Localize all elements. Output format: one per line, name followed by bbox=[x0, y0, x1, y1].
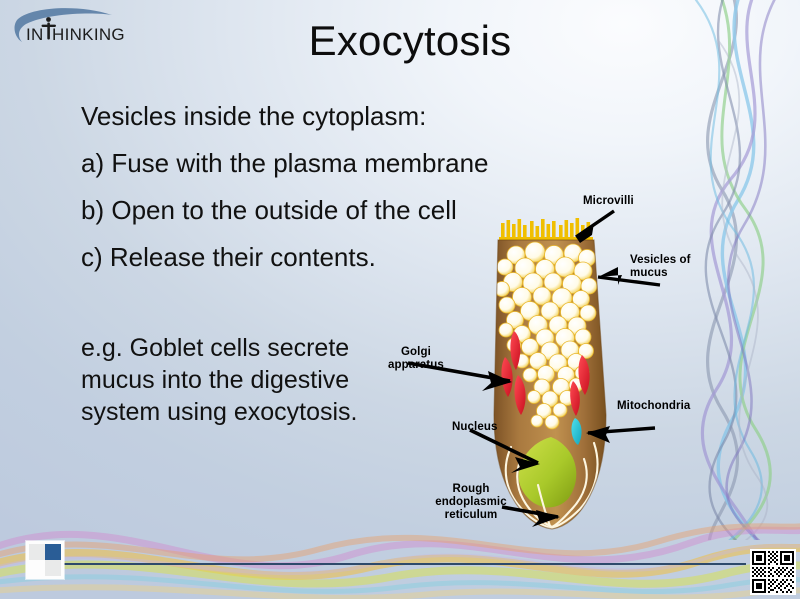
example-text-block: e.g. Goblet cells secrete mucus into the… bbox=[81, 333, 371, 428]
label-nucleus: Nucleus bbox=[452, 421, 497, 434]
inthinking-logo[interactable]: IN HINKING bbox=[8, 6, 136, 50]
label-golgi-apparatus: Golgi apparatus bbox=[388, 346, 444, 372]
label-vesicles-of-mucus: Vesicles of mucus bbox=[630, 254, 691, 280]
footer-square-quadrant-4 bbox=[45, 560, 61, 576]
page-title: Exocytosis bbox=[200, 18, 620, 64]
label-mitochondria: Mitochondria bbox=[617, 400, 690, 413]
body-point-a: a) Fuse with the plasma membrane bbox=[81, 149, 551, 177]
body-intro: Vesicles inside the cytoplasm: bbox=[81, 102, 551, 130]
footer-logo-square bbox=[26, 541, 64, 579]
footer-divider bbox=[60, 563, 746, 565]
label-rough-endoplasmic-reticulum: Rough endoplasmic reticulum bbox=[416, 483, 526, 522]
example-text: e.g. Goblet cells secrete mucus into the… bbox=[81, 333, 371, 428]
label-microvilli: Microvilli bbox=[583, 195, 634, 208]
footer-square-quadrant-1 bbox=[29, 544, 45, 560]
svg-text:IN: IN bbox=[26, 25, 44, 44]
qr-code[interactable] bbox=[750, 549, 796, 595]
svg-text:HINKING: HINKING bbox=[52, 25, 125, 44]
footer-square-quadrant-2 bbox=[45, 544, 61, 560]
slide-canvas: IN HINKING Exocytosis Vesicles inside th… bbox=[0, 0, 800, 599]
footer-square-quadrant-3 bbox=[29, 560, 45, 576]
